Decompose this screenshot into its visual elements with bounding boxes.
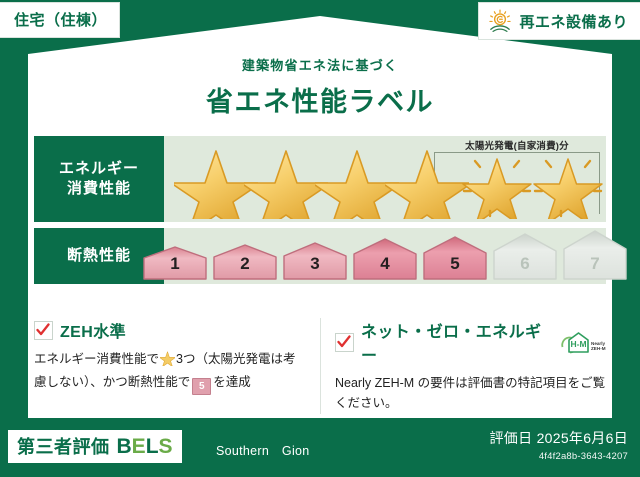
house-grade-icon: 1 xyxy=(142,246,208,280)
energy-performance-body: 太陽光発電(自家消費)分 xyxy=(164,136,606,222)
building-type-badge: 住宅（住棟） xyxy=(0,2,120,38)
energy-label-line1: エネルギー xyxy=(59,159,139,179)
renewable-energy-badge: 再エネ設備あり xyxy=(478,2,640,40)
criteria-net-zero: ネット・ゼロ・エネルギー H-M Nearly ZEH-M Nearly ZEH… xyxy=(320,318,606,414)
evaluation-id: 4f4f2a8b-3643-4207 xyxy=(489,451,628,462)
house-grade-icon: 2 xyxy=(212,244,278,280)
renewable-energy-label: 再エネ設備あり xyxy=(519,11,628,32)
insulation-performance-body: 1 2 3 xyxy=(164,228,606,284)
bels-letter-b: B xyxy=(117,435,132,458)
sparkle-star-icon xyxy=(455,145,525,219)
criteria-net-zero-title: ネット・ゼロ・エネルギー xyxy=(361,318,549,366)
grade-number: 3 xyxy=(282,254,348,274)
star-icon xyxy=(244,145,314,219)
energy-performance-row: エネルギー 消費性能 太陽光発電(自家消費)分 xyxy=(34,136,606,222)
house-grade-icon: 7 xyxy=(562,230,628,280)
grade-badge: 5 xyxy=(192,378,211,395)
house-grade-icon: 5 xyxy=(422,236,488,280)
house-grade-icon: 3 xyxy=(282,242,348,280)
house-grade-icon: 4 xyxy=(352,238,418,280)
evaluation-info: 評価日 2025年6月6日 4f4f2a8b-3643-4207 xyxy=(489,428,628,462)
bels-wordmark: BELS xyxy=(117,435,173,459)
criteria-zeh: ZEH水準 エネルギー消費性能で3つ（太陽光発電は考慮しない）、かつ断熱性能で5… xyxy=(34,318,320,414)
evaluation-date: 評価日 2025年6月6日 xyxy=(489,428,628,448)
criteria-zeh-body: エネルギー消費性能で3つ（太陽光発電は考慮しない）、かつ断熱性能で5を達成 xyxy=(34,349,306,395)
check-icon xyxy=(335,333,354,352)
svg-text:H-M: H-M xyxy=(570,339,586,349)
star-icon xyxy=(385,145,455,219)
footer-bar: 第三者評価 BELS Southern Gion 評価日 2025年6月6日 4… xyxy=(0,418,640,477)
rating-rows: エネルギー 消費性能 太陽光発電(自家消費)分 xyxy=(34,136,606,290)
bels-badge: 第三者評価 BELS xyxy=(8,430,182,463)
criteria-zeh-text-post: を達成 xyxy=(213,375,251,389)
star-icon xyxy=(315,145,385,219)
criteria-section: ZEH水準 エネルギー消費性能で3つ（太陽光発電は考慮しない）、かつ断熱性能で5… xyxy=(34,318,606,414)
bels-letter-l: L xyxy=(146,435,159,458)
building-owner-name: Southern Gion xyxy=(216,440,310,459)
bels-jp-label: 第三者評価 xyxy=(17,433,110,459)
zeh-m-logo-icon: H-M Nearly ZEH-M xyxy=(560,330,606,354)
title-subtitle: 建築物省エネ法に基づく xyxy=(0,55,640,74)
bels-letter-s: S xyxy=(159,435,173,458)
title-main: 省エネ性能ラベル xyxy=(0,80,640,119)
grade-number: 6 xyxy=(492,254,558,274)
criteria-zeh-header: ZEH水準 xyxy=(34,318,306,342)
insulation-grade-scale: 1 2 3 xyxy=(172,228,598,284)
grade-number: 2 xyxy=(212,254,278,274)
svg-text:ZEH-M: ZEH-M xyxy=(591,346,606,351)
sparkle-star-icon xyxy=(526,145,596,219)
insulation-label-text: 断熱性能 xyxy=(67,246,131,266)
energy-performance-label: エネルギー 消費性能 xyxy=(34,136,164,222)
star-icon xyxy=(174,145,244,219)
grade-number: 7 xyxy=(562,254,628,274)
criteria-zeh-text-pre: エネルギー消費性能で xyxy=(34,352,159,366)
insulation-performance-row: 断熱性能 xyxy=(34,228,606,284)
criteria-net-zero-header: ネット・ゼロ・エネルギー H-M Nearly ZEH-M xyxy=(335,318,606,366)
grade-number: 5 xyxy=(422,254,488,274)
building-type-label: 住宅（住棟） xyxy=(14,12,107,29)
criteria-net-zero-body: Nearly ZEH-M の要件は評価書の特記項目をご覧ください。 xyxy=(335,373,606,414)
grade-number: 1 xyxy=(142,254,208,274)
energy-label-root: 住宅（住棟） 再エネ設備あり 建築物省エネ法に基づく 省エネ性能ラベル xyxy=(0,0,640,477)
star-rating xyxy=(170,144,600,220)
title-block: 建築物省エネ法に基づく 省エネ性能ラベル xyxy=(0,55,640,119)
sun-renewable-icon xyxy=(487,8,513,34)
grade-number: 4 xyxy=(352,254,418,274)
star-icon xyxy=(160,351,175,372)
check-icon xyxy=(34,321,53,340)
energy-label-line2: 消費性能 xyxy=(67,179,131,199)
bels-letter-e: E xyxy=(132,435,146,458)
house-grade-icon: 6 xyxy=(492,233,558,280)
criteria-zeh-title: ZEH水準 xyxy=(60,318,126,342)
